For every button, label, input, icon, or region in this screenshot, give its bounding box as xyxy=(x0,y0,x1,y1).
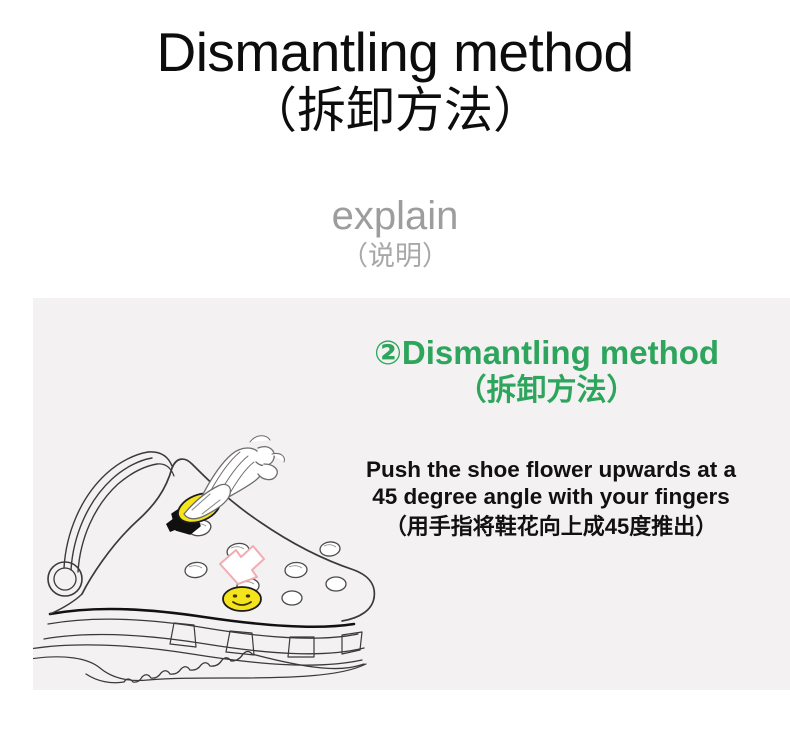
subtitle-explain-cn: （说明） xyxy=(0,240,790,272)
step-heading-en: ②Dismantling method xyxy=(303,334,790,372)
page-title-cn: （拆卸方法） xyxy=(0,82,790,140)
step-heading-cn: （拆卸方法） xyxy=(303,373,790,408)
instruction-line-cn: （用手指将鞋花向上成45度推出） xyxy=(301,512,790,542)
subtitle-explain-en: explain xyxy=(0,193,790,239)
step-heading: ②Dismantling method （拆卸方法） xyxy=(303,334,790,408)
instruction-line-1: Push the shoe flower upwards at a xyxy=(301,456,790,483)
instruction-line-2: 45 degree angle with your fingers xyxy=(301,483,790,510)
instruction-panel: ②Dismantling method （拆卸方法） Push the shoe… xyxy=(33,298,790,690)
instruction-text: Push the shoe flower upwards at a 45 deg… xyxy=(301,456,790,542)
page-title-en: Dismantling method xyxy=(0,22,790,82)
